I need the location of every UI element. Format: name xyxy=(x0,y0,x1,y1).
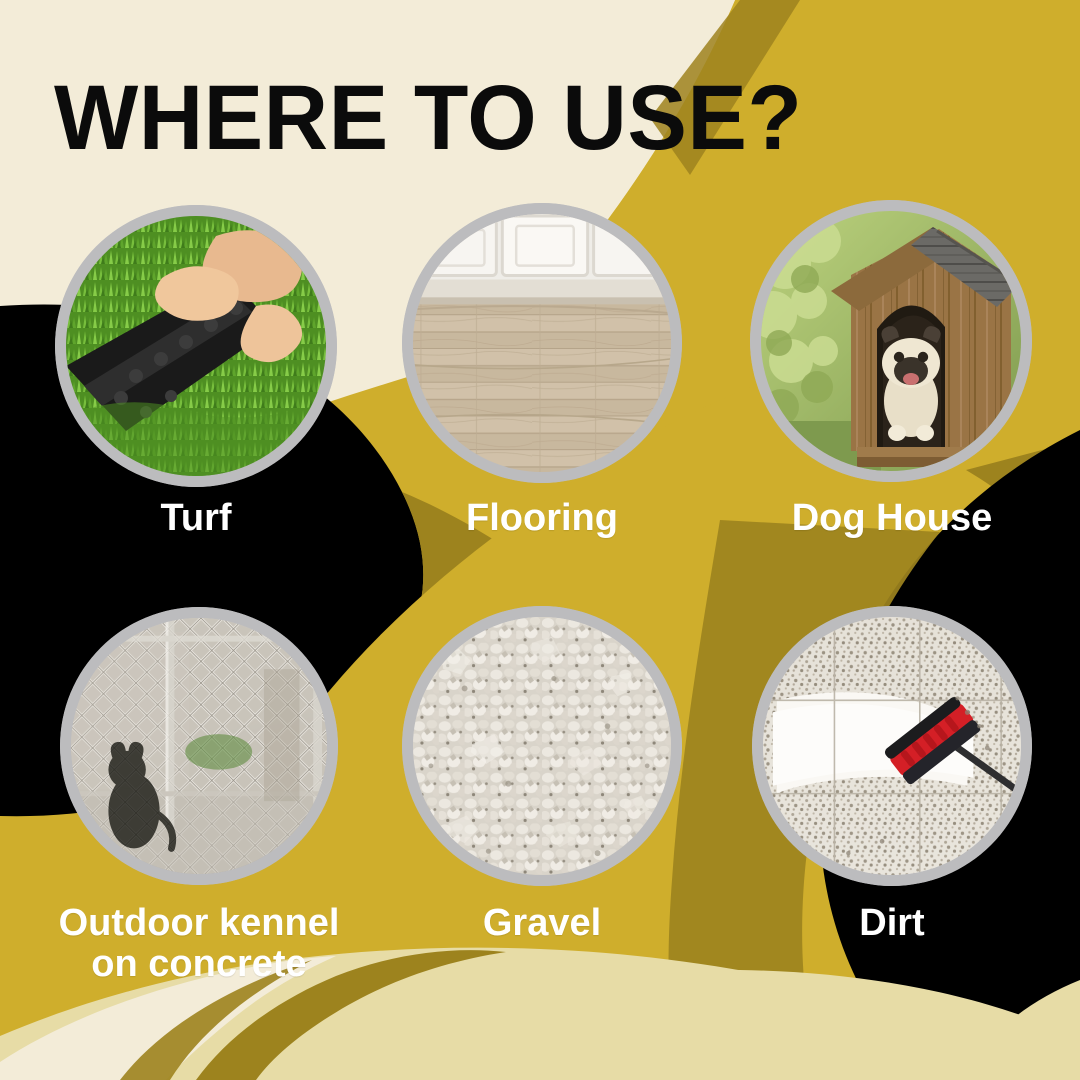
outdoor-kennel-caption: Outdoor kennel on concrete xyxy=(26,903,372,985)
turf-photo-circle[interactable] xyxy=(55,205,337,487)
dog-house-photo-circle[interactable] xyxy=(750,200,1032,482)
outdoor-kennel-image xyxy=(71,618,327,874)
outdoor-kennel-photo-circle[interactable] xyxy=(60,607,338,885)
gravel-caption: Gravel xyxy=(392,903,692,944)
poster-canvas: WHERE TO USE? xyxy=(0,0,1080,1080)
flooring-caption: Flooring xyxy=(392,498,692,539)
dirt-photo-circle[interactable] xyxy=(752,606,1032,886)
turf-image xyxy=(66,216,326,476)
gravel-photo-circle[interactable] xyxy=(402,606,682,886)
dog-house-caption: Dog House xyxy=(742,498,1042,539)
flooring-image xyxy=(413,214,671,472)
flooring-photo-circle[interactable] xyxy=(402,203,682,483)
dirt-caption: Dirt xyxy=(742,903,1042,944)
dirt-image xyxy=(763,617,1021,875)
gravel-image xyxy=(413,617,671,875)
turf-caption: Turf xyxy=(46,498,346,539)
dog-house-image xyxy=(761,211,1021,471)
use-case-grid: Turf xyxy=(0,0,1080,1080)
